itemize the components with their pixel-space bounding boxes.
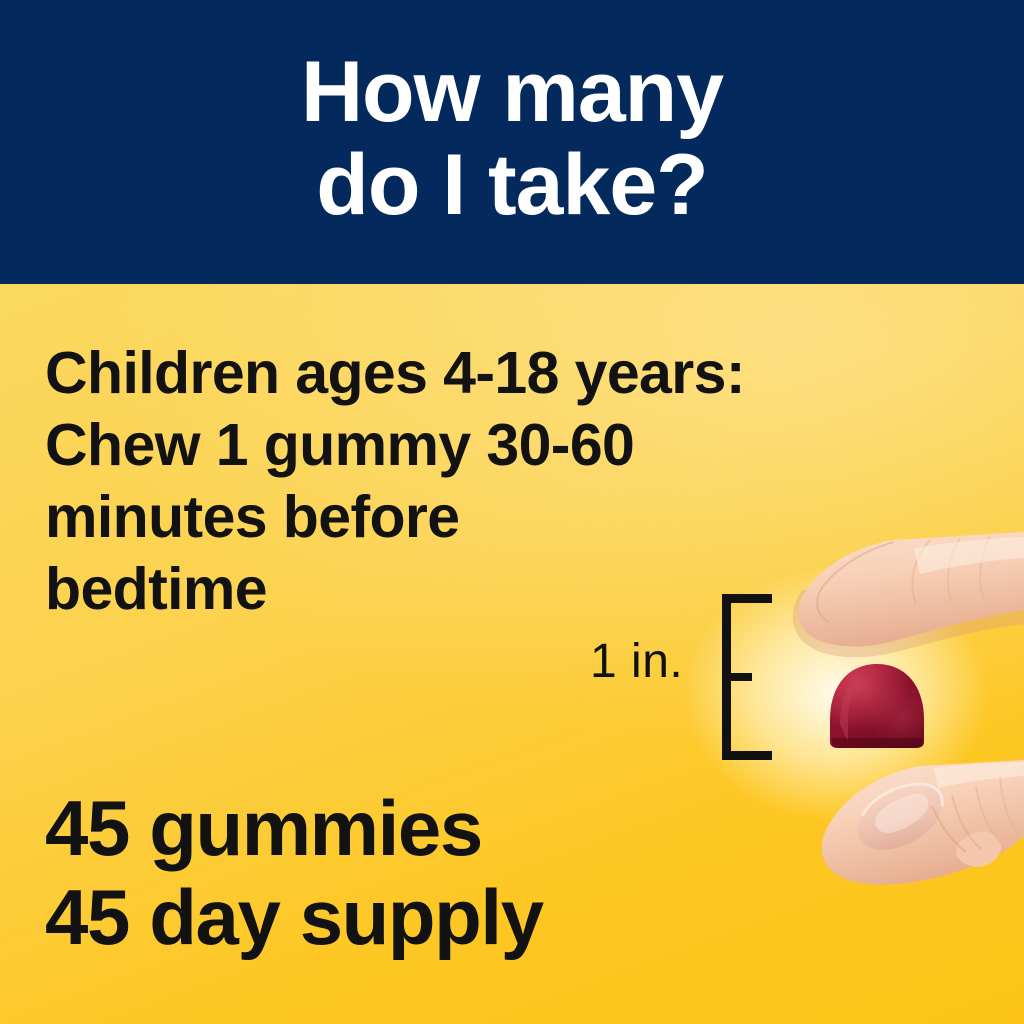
bracket-arm-middle [722, 673, 752, 681]
measurement-label: 1 in. [590, 634, 683, 689]
supply-line-days: 45 day supply [45, 873, 543, 962]
header-title-line-1: How many [301, 46, 723, 139]
dosage-instructions: Children ages 4-18 years: Chew 1 gummy 3… [45, 338, 965, 626]
bracket-arm-top [722, 594, 772, 603]
supply-info: 45 gummies 45 day supply [45, 784, 543, 962]
header-title-line-2: do I take? [316, 139, 707, 232]
bracket-arm-bottom [722, 751, 772, 760]
product-info-poster: How many do I take? Children ages 4-18 y… [0, 0, 1024, 1024]
instruction-line-3: minutes before [45, 482, 965, 554]
body-area: Children ages 4-18 years: Chew 1 gummy 3… [0, 284, 1024, 1024]
size-measurement-callout: 1 in. [590, 584, 790, 774]
size-bracket-icon [722, 594, 774, 760]
header-band: How many do I take? [0, 0, 1024, 284]
instruction-line-1: Children ages 4-18 years: [45, 338, 965, 410]
supply-line-count: 45 gummies [45, 784, 543, 873]
instruction-line-4: bedtime [45, 554, 965, 626]
instruction-line-2: Chew 1 gummy 30-60 [45, 410, 965, 482]
